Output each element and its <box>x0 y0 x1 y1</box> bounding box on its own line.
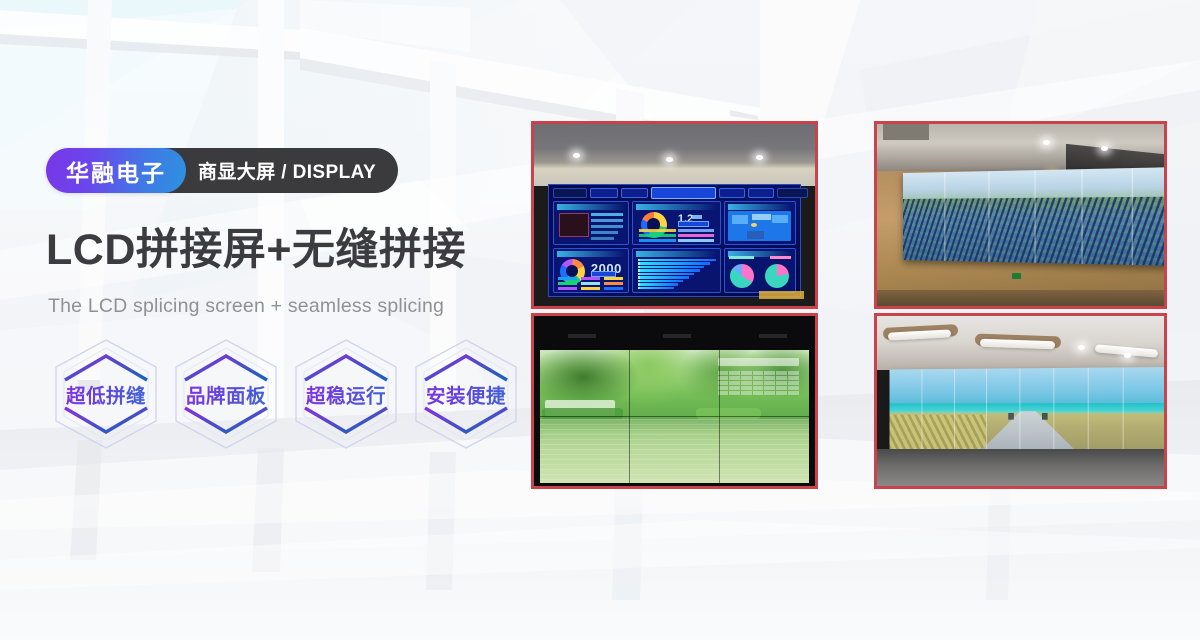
feature-badge-label: 品牌面板 <box>168 380 284 409</box>
ceiling-light <box>666 157 673 162</box>
dashboard-nav-button <box>748 188 774 198</box>
feature-badge-2: 品牌面板 <box>168 335 284 453</box>
feature-badge-4: 安装便捷 <box>408 335 524 453</box>
calendar-overlay <box>718 358 799 418</box>
person <box>1042 413 1048 420</box>
feature-badge-label: 超稳运行 <box>288 380 404 409</box>
pie-chart <box>765 264 789 288</box>
bar-chart <box>638 259 714 290</box>
feature-badge-label: 超低拼缝 <box>48 380 164 409</box>
dashboard-video-wall: 1.2 <box>548 184 801 297</box>
photo-beach-boardwalk-wall <box>874 313 1167 489</box>
page-title: LCD拼接屏+无缝拼接 <box>46 228 466 273</box>
dashboard-card-ranking-bars <box>632 248 721 292</box>
kpi-sublabel <box>678 221 710 227</box>
calendar-title <box>718 358 799 366</box>
ceiling-light <box>756 155 763 160</box>
floor <box>877 290 1164 306</box>
pie-chart <box>730 264 754 288</box>
photo-solar-farm-wall <box>874 121 1167 309</box>
brand-badge-row: 华融电子 商显大屏 / DISPLAY <box>46 148 398 193</box>
dashboard-card-pie-stats <box>724 248 796 292</box>
person <box>1009 413 1015 420</box>
upper-bezel-row <box>534 316 815 350</box>
dashboard-title-plate <box>651 187 716 198</box>
lcd-video-wall <box>540 350 810 483</box>
dashboard-status <box>777 188 808 198</box>
feature-badge-list: 超低拼缝 品牌面板 <box>48 335 524 453</box>
brand-badge: 华融电子 <box>46 148 186 193</box>
dashboard-card-profile <box>553 201 629 245</box>
product-banner: 华融电子 商显大屏 / DISPLAY LCD拼接屏+无缝拼接 The LCD … <box>0 0 1200 640</box>
calendar-grid <box>718 371 799 395</box>
page-subtitle: The LCD splicing screen + seamless splic… <box>48 295 444 318</box>
dashboard-nav-button <box>621 188 647 198</box>
dashboard-timestamp <box>553 188 587 198</box>
photo-willow-lake-wall <box>531 313 818 489</box>
dashboard-card-grid: 1.2 <box>551 199 798 295</box>
dashboard-card-process-diagram <box>724 201 796 245</box>
dune-grass <box>890 414 987 450</box>
feature-badge-label: 安装便捷 <box>408 380 524 409</box>
dashboard-footer-tag <box>759 291 804 298</box>
dashboard-nav-button <box>719 188 745 198</box>
dashboard-nav-button <box>590 188 619 198</box>
kpi-unit <box>692 215 702 219</box>
feature-badge-1: 超低拼缝 <box>48 335 164 453</box>
exit-sign-icon <box>1012 273 1021 279</box>
feature-badge-3: 超稳运行 <box>288 335 404 453</box>
ceiling-vent <box>883 124 929 140</box>
dashboard-card-ring-kpi: 2000 <box>553 248 629 292</box>
product-photo-gallery: 1.2 <box>531 121 1167 489</box>
photo-control-room-dashboard: 1.2 <box>531 121 818 309</box>
brand-badge-label: 华融电子 <box>66 154 166 188</box>
facility-photo-thumb <box>559 213 589 237</box>
lcd-video-wall <box>890 367 1164 452</box>
lcd-video-wall <box>903 167 1164 267</box>
banner-text-column: 华融电子 商显大屏 / DISPLAY LCD拼接屏+无缝拼接 The LCD … <box>0 0 530 640</box>
category-badge-label: 商显大屏 / DISPLAY <box>198 157 376 184</box>
dashboard-header-bar <box>551 187 798 199</box>
dashboard-card-enterprise-stats: 1.2 <box>632 201 721 245</box>
floor <box>877 449 1164 486</box>
flow-diagram <box>728 211 791 241</box>
ceiling-light <box>1101 146 1108 151</box>
